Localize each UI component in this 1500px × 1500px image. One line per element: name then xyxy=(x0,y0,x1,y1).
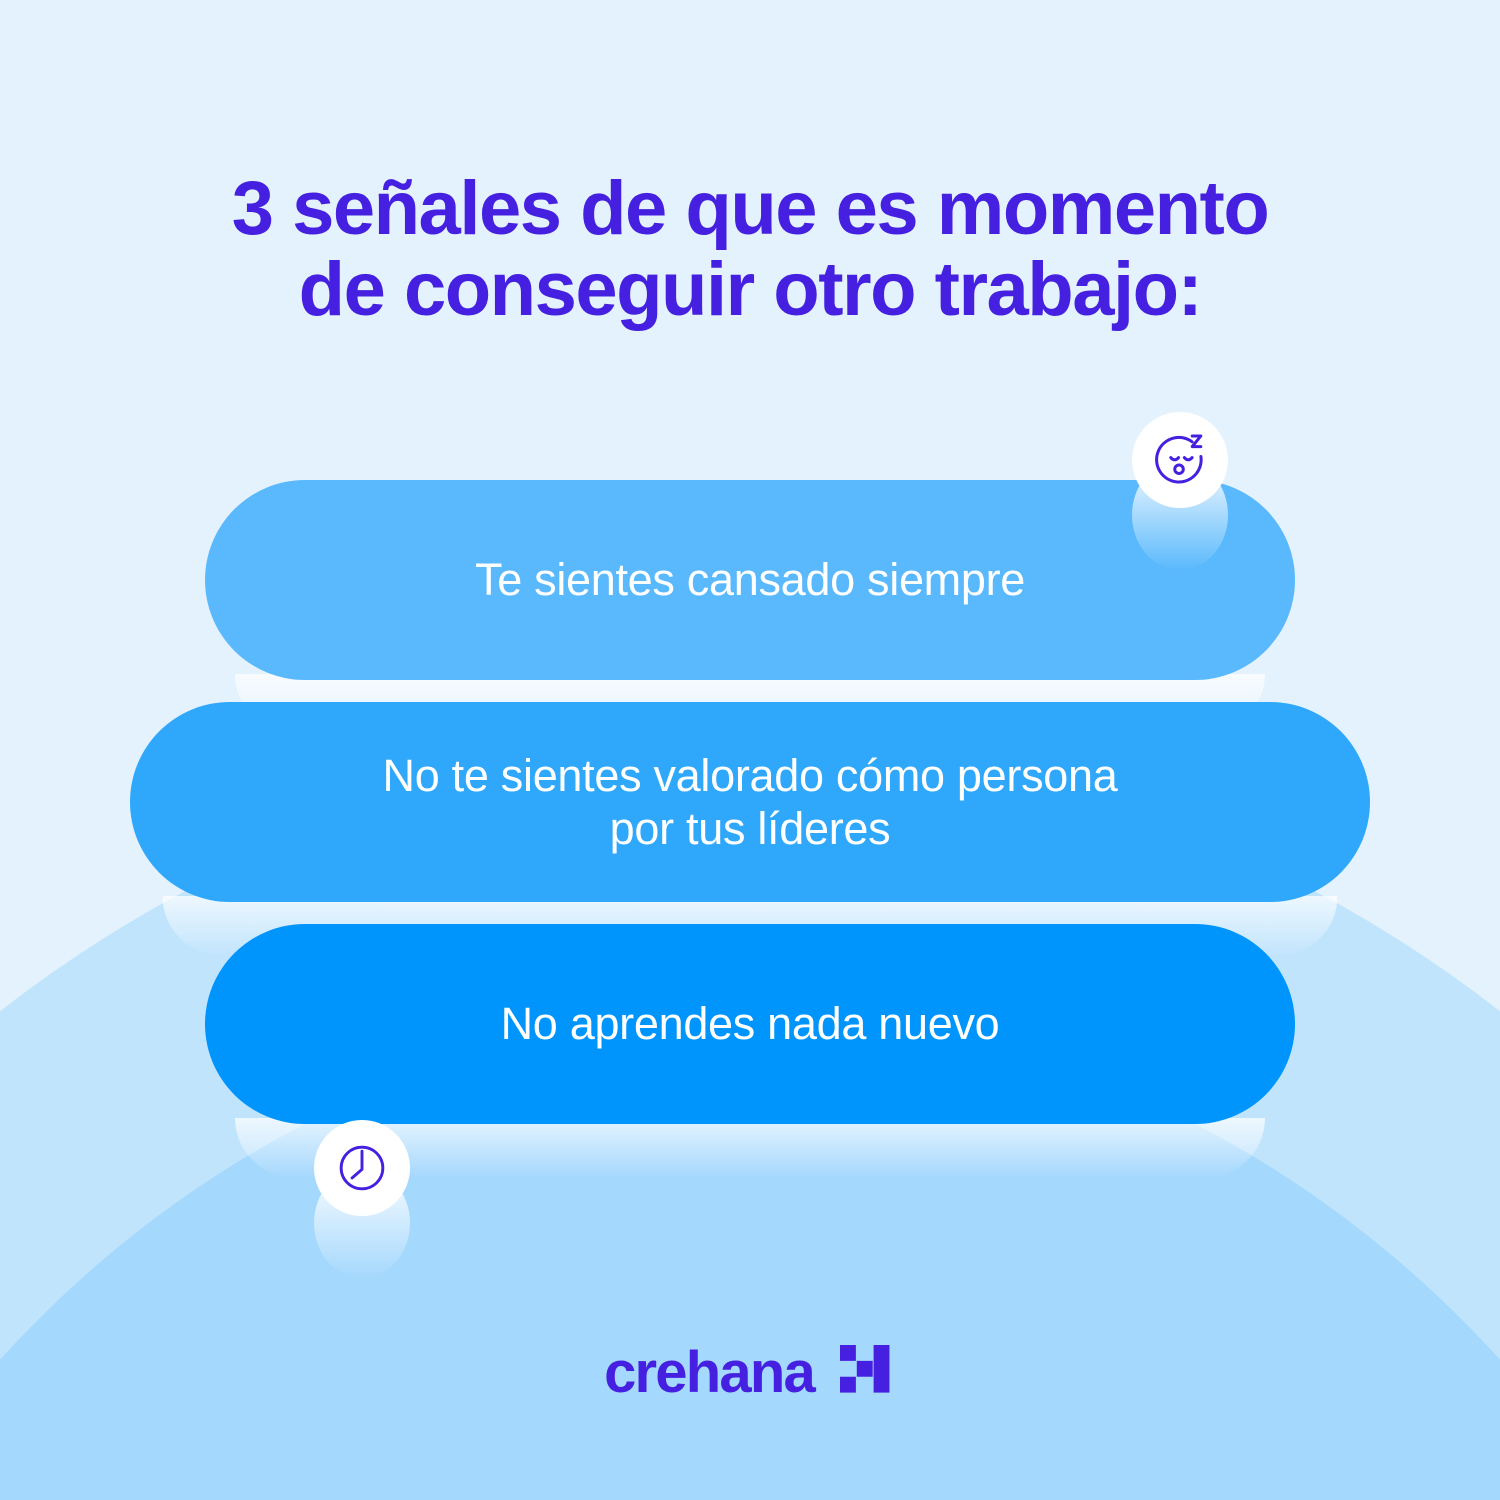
signal-item-2-line-2: por tus líderes xyxy=(610,803,891,854)
signal-item-1-label: Te sientes cansado siempre xyxy=(475,553,1025,606)
signal-item-2-label: No te sientes valorado cómo persona por … xyxy=(383,749,1118,855)
clock-icon xyxy=(333,1139,391,1197)
signal-list: Te sientes cansado siempre No te sientes… xyxy=(0,480,1500,1124)
clock-badge xyxy=(314,1120,410,1216)
signal-item-2-line-1: No te sientes valorado cómo persona xyxy=(383,750,1118,801)
signal-item-1-wrap: Te sientes cansado siempre xyxy=(0,480,1500,680)
page-title: 3 señales de que es momento de conseguir… xyxy=(0,168,1500,331)
signal-item-2: No te sientes valorado cómo persona por … xyxy=(130,702,1370,902)
footer-logo: crehana xyxy=(0,1344,1500,1402)
page-title-line-2: de conseguir otro trabajo: xyxy=(120,249,1380,330)
sleeping-face-badge xyxy=(1132,412,1228,508)
sleeping-face-icon xyxy=(1149,429,1211,491)
crehana-logo-mark-icon xyxy=(840,1345,896,1401)
signal-item-1: Te sientes cansado siempre xyxy=(205,480,1295,680)
signal-item-3: No aprendes nada nuevo xyxy=(205,924,1295,1124)
signal-item-2-wrap: No te sientes valorado cómo persona por … xyxy=(0,702,1500,902)
signal-item-3-label: No aprendes nada nuevo xyxy=(501,997,1000,1050)
brand-wordmark: crehana xyxy=(604,1344,814,1402)
poster-canvas: 3 señales de que es momento de conseguir… xyxy=(0,0,1500,1500)
signal-item-3-wrap: No aprendes nada nuevo xyxy=(0,924,1500,1124)
page-title-line-1: 3 señales de que es momento xyxy=(120,168,1380,249)
